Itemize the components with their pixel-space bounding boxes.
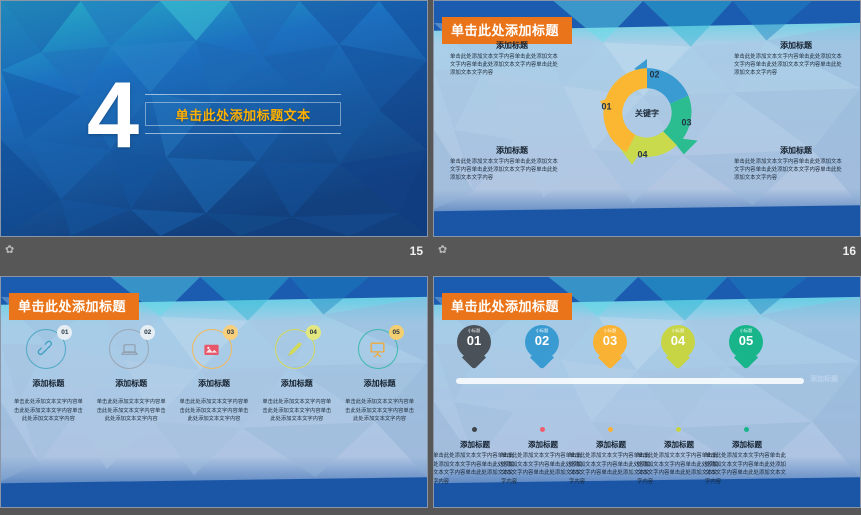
- star-icon: ✿: [438, 245, 447, 256]
- slide-17[interactable]: 单击此处添加标题 01: [0, 276, 428, 508]
- item-heading: 添加标题: [281, 378, 313, 389]
- timeline-dot: [744, 427, 749, 432]
- text-block-body: 单击此处添加文本文字内容单击此处添加文本文字内容单击此处添加文本文字内容单击此处…: [734, 158, 846, 183]
- timeline-dot: [676, 427, 681, 432]
- section-number: 4: [87, 75, 135, 155]
- map-pin-icon: 小标题 03: [593, 325, 627, 369]
- presentation-board-icon: [366, 337, 390, 361]
- timeline-end-label: 添加标题: [810, 374, 838, 384]
- timeline-dot: [540, 427, 545, 432]
- picture-frame-icon: [200, 337, 224, 361]
- pin-number: 04: [661, 334, 695, 348]
- text-block-heading: 添加标题: [450, 146, 562, 156]
- cycle-segment-01: 01: [602, 102, 612, 112]
- section-title-text: 单击此处添加标题文本: [176, 105, 311, 124]
- icon-circle: 04: [275, 325, 319, 369]
- cycle-text-block: 添加标题 单击此处添加文本文字内容单击此处添加文本文字内容单击此处添加文本文字内…: [734, 146, 846, 183]
- slide-footer-16: ✿ 16: [433, 239, 861, 262]
- item-body: 单击此处添加文本文字内容单击此处添加文本文字内容单击此处添加文本文字内容: [12, 398, 84, 424]
- timeline-dot: [608, 427, 613, 432]
- cycle-center-label: 关键字: [635, 108, 659, 119]
- pin-number: 03: [593, 334, 627, 348]
- text-block-heading: 添加标题: [734, 41, 846, 51]
- slide-title-text: 单击此处添加标题: [18, 299, 126, 314]
- text-block-body: 单击此处添加文本文字内容单击此处添加文本文字内容单击此处添加文本文字内容单击此处…: [734, 53, 846, 78]
- text-block-body: 单击此处添加文本文字内容单击此处添加文本文字内容单击此处添加文本文字内容单击此处…: [450, 158, 562, 183]
- icon-feature-item[interactable]: 05 添加标题 单击此处添加文本文字内容单击此处添加文本文字内容单击此处添加文本…: [341, 325, 419, 424]
- timeline-dot: [472, 427, 477, 432]
- map-pin-icon: 小标题 04: [661, 325, 695, 369]
- icon-feature-item[interactable]: 04 添加标题 单击此处添加文本文字内容单击此处添加文本文字内容单击此处添加文本…: [258, 325, 336, 424]
- icon-circle: 05: [358, 325, 402, 369]
- cycle-text-block: 添加标题 单击此处添加文本文字内容单击此处添加文本文字内容单击此处添加文本文字内…: [450, 146, 562, 183]
- icon-feature-item[interactable]: 03 添加标题 单击此处添加文本文字内容单击此处添加文本文字内容单击此处添加文本…: [175, 325, 253, 424]
- laptop-icon: [117, 337, 141, 361]
- timeline-pin[interactable]: 小标题 04: [655, 325, 701, 369]
- text-block-heading: 添加标题: [450, 41, 562, 51]
- map-pin-icon: 小标题 05: [729, 325, 763, 369]
- item-heading: 添加标题: [115, 378, 147, 389]
- divider-rule-top: [145, 94, 341, 95]
- page-number: 16: [843, 244, 856, 258]
- slide-cell-16[interactable]: 单击此处添加标题: [433, 0, 861, 262]
- circle-badge: 04: [306, 325, 321, 340]
- circle-badge: 01: [57, 325, 72, 340]
- cycle-segment-03: 03: [682, 118, 692, 128]
- text-block-body: 单击此处添加文本文字内容单击此处添加文本文字内容单击此处添加文本文字内容单击此处…: [450, 53, 562, 78]
- circle-badge: 05: [389, 325, 404, 340]
- timeline-pin[interactable]: 小标题 05: [723, 325, 769, 369]
- slide-cell-18[interactable]: 单击此处添加标题 添加标题 小标题 01: [433, 276, 861, 515]
- icon-circle: 03: [192, 325, 236, 369]
- item-heading: 添加标题: [32, 378, 64, 389]
- timeline-pin[interactable]: 小标题 01: [451, 325, 497, 369]
- timeline-heading: 添加标题: [705, 439, 789, 450]
- text-block-heading: 添加标题: [734, 146, 846, 156]
- item-heading: 添加标题: [364, 378, 396, 389]
- item-body: 单击此处添加文本文字内容单击此处添加文本文字内容单击此处添加文本文字内容: [344, 398, 416, 424]
- circle-badge: 02: [140, 325, 155, 340]
- item-body: 单击此处添加文本文字内容单击此处添加文本文字内容单击此处添加文本文字内容: [95, 398, 167, 424]
- slide-footer-15: ✿ 15: [0, 239, 428, 262]
- icon-circle: 01: [26, 325, 70, 369]
- timeline-diagram: 添加标题 小标题 01: [434, 277, 860, 507]
- section-title-box[interactable]: 单击此处添加标题文本: [145, 102, 341, 126]
- icon-feature-row: 01 添加标题 单击此处添加文本文字内容单击此处添加文本文字内容单击此处添加文本…: [7, 325, 421, 424]
- map-pin-icon: 小标题 01: [457, 325, 491, 369]
- pin-number: 02: [525, 334, 559, 348]
- pencil-icon: [283, 337, 307, 361]
- timeline-pin[interactable]: 小标题 03: [587, 325, 633, 369]
- icon-feature-item[interactable]: 02 添加标题 单击此处添加文本文字内容单击此处添加文本文字内容单击此处添加文本…: [92, 325, 170, 424]
- cycle-diagram: 关键字 01 02 03 04 添加标题 单击此处添加文本文字内容单击此处添加文…: [434, 1, 860, 236]
- pin-number: 05: [729, 334, 763, 348]
- slide-cell-17[interactable]: 单击此处添加标题 01: [0, 276, 428, 515]
- star-icon: ✿: [5, 245, 14, 256]
- map-pin-icon: 小标题 02: [525, 325, 559, 369]
- slide-15[interactable]: 4 单击此处添加标题文本: [0, 0, 428, 237]
- pin-number: 01: [457, 334, 491, 348]
- timeline-pin[interactable]: 小标题 02: [519, 325, 565, 369]
- cycle-segment-02: 02: [650, 70, 660, 80]
- divider-rule-bottom: [145, 133, 341, 134]
- item-body: 单击此处添加文本文字内容单击此处添加文本文字内容单击此处添加文本文字内容: [178, 398, 250, 424]
- timeline-text: 添加标题 单击此处添加文本文字内容单击此处添加文本文字内容单击此处添加文本文字内…: [705, 439, 789, 487]
- item-heading: 添加标题: [198, 378, 230, 389]
- timeline-track: [456, 378, 804, 384]
- icon-circle: 02: [109, 325, 153, 369]
- circle-badge: 03: [223, 325, 238, 340]
- slide-cell-15[interactable]: 4 单击此处添加标题文本 ✿ 15: [0, 0, 428, 262]
- section-divider-content: 4 单击此处添加标题文本: [1, 1, 427, 236]
- slide-16[interactable]: 单击此处添加标题: [433, 0, 861, 237]
- slide-18[interactable]: 单击此处添加标题 添加标题 小标题 01: [433, 276, 861, 508]
- cycle-ring: 关键字 01 02 03 04: [590, 56, 705, 171]
- chain-link-icon: [34, 337, 58, 361]
- cycle-text-block: 添加标题 单击此处添加文本文字内容单击此处添加文本文字内容单击此处添加文本文字内…: [450, 41, 562, 78]
- cycle-segment-04: 04: [638, 150, 648, 160]
- slide-title-banner[interactable]: 单击此处添加标题: [9, 293, 139, 320]
- item-body: 单击此处添加文本文字内容单击此处添加文本文字内容单击此处添加文本文字内容: [261, 398, 333, 424]
- page-number: 15: [410, 244, 423, 258]
- slide-thumbnail-grid: 4 单击此处添加标题文本 ✿ 15: [0, 0, 861, 515]
- cycle-text-block: 添加标题 单击此处添加文本文字内容单击此处添加文本文字内容单击此处添加文本文字内…: [734, 41, 846, 78]
- icon-feature-item[interactable]: 01 添加标题 单击此处添加文本文字内容单击此处添加文本文字内容单击此处添加文本…: [9, 325, 87, 424]
- timeline-body: 单击此处添加文本文字内容单击此处添加文本文字内容单击此处添加文本文字内容单击此处…: [705, 452, 789, 487]
